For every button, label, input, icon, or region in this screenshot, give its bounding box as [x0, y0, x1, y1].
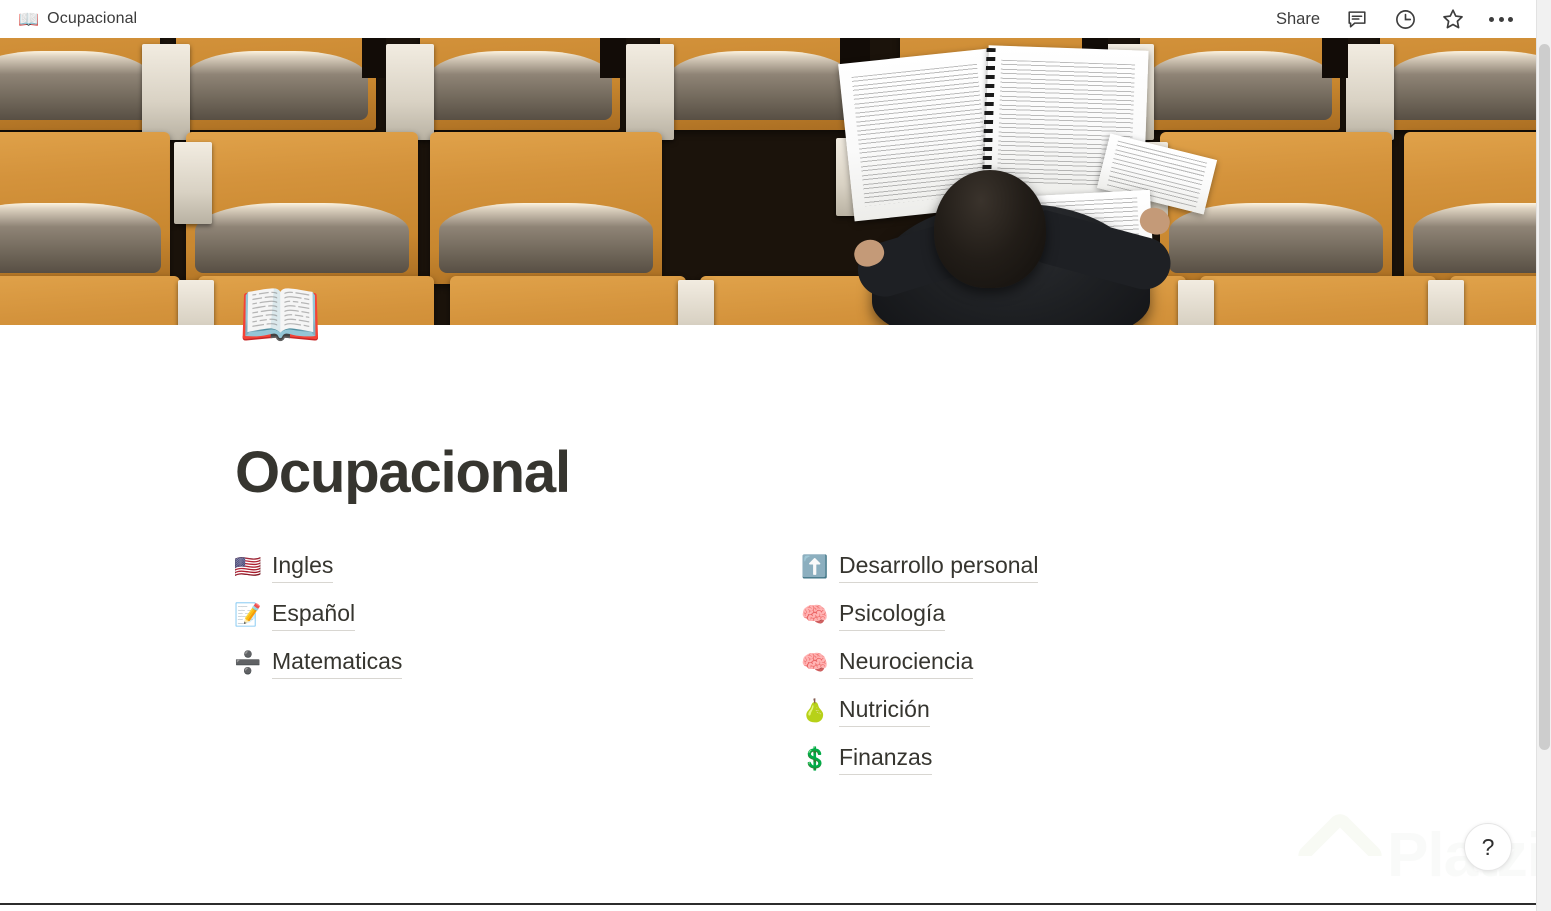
- page-breadcrumb-book-icon: 📖: [18, 11, 39, 28]
- auditorium-scene: [0, 38, 1536, 325]
- scrollbar-thumb[interactable]: [1539, 44, 1550, 750]
- platzi-logo-icon: [1293, 809, 1386, 902]
- star-favorite-icon[interactable]: [1440, 6, 1466, 32]
- list-item[interactable]: 🧠 Psicología: [802, 591, 1402, 639]
- comment-icon[interactable]: [1344, 6, 1370, 32]
- link-columns: 🇺🇸 Ingles 📝 Español ➗ Matematicas ⬆️ Des…: [235, 543, 1415, 783]
- division-sign-icon: ➗: [235, 652, 261, 674]
- notion-page-app: 📖 Ocupacional Share: [0, 0, 1551, 911]
- vertical-scrollbar[interactable]: [1536, 0, 1551, 911]
- list-item[interactable]: ➗ Matematicas: [235, 639, 802, 687]
- page-cover-image[interactable]: [0, 38, 1536, 325]
- breadcrumb-title[interactable]: Ocupacional: [47, 10, 137, 28]
- page-icon-book[interactable]: 📖: [238, 281, 323, 349]
- page-link-desarrollo-personal[interactable]: Desarrollo personal: [839, 551, 1038, 583]
- page-link-neurociencia[interactable]: Neurociencia: [839, 647, 973, 679]
- list-item[interactable]: 🍐 Nutrición: [802, 687, 1402, 735]
- bottom-divider: [0, 903, 1536, 905]
- person-reading: [862, 134, 1162, 325]
- history-clock-icon[interactable]: [1392, 6, 1418, 32]
- page-link-nutricion[interactable]: Nutrición: [839, 695, 930, 727]
- list-item[interactable]: 🇺🇸 Ingles: [235, 543, 802, 591]
- help-button[interactable]: ?: [1464, 823, 1512, 871]
- share-button[interactable]: Share: [1274, 8, 1322, 31]
- list-item[interactable]: ⬆️ Desarrollo personal: [802, 543, 1402, 591]
- list-item[interactable]: 📝 Español: [235, 591, 802, 639]
- memo-icon: 📝: [235, 604, 261, 626]
- brain-icon: 🧠: [802, 604, 828, 626]
- more-options-dots: [1489, 17, 1513, 22]
- us-flag-icon: 🇺🇸: [235, 556, 261, 578]
- page-link-espanol[interactable]: Español: [272, 599, 355, 631]
- column-right: ⬆️ Desarrollo personal 🧠 Psicología 🧠 Ne…: [802, 543, 1402, 783]
- page-link-psicologia[interactable]: Psicología: [839, 599, 945, 631]
- list-item[interactable]: 💲 Finanzas: [802, 735, 1402, 783]
- toolbar-actions: Share: [1274, 6, 1536, 32]
- page-link-ingles[interactable]: Ingles: [272, 551, 333, 583]
- top-toolbar: 📖 Ocupacional Share: [0, 0, 1536, 38]
- list-item[interactable]: 🧠 Neurociencia: [802, 639, 1402, 687]
- page-link-finanzas[interactable]: Finanzas: [839, 743, 932, 775]
- page-link-matematicas[interactable]: Matematicas: [272, 647, 402, 679]
- up-arrow-icon: ⬆️: [802, 556, 828, 578]
- page-title[interactable]: Ocupacional: [235, 443, 570, 504]
- brain-icon: 🧠: [802, 652, 828, 674]
- column-left: 🇺🇸 Ingles 📝 Español ➗ Matematicas: [235, 543, 802, 783]
- breadcrumb[interactable]: 📖 Ocupacional: [0, 10, 137, 28]
- more-options-icon[interactable]: [1488, 6, 1514, 32]
- dollar-sign-icon: 💲: [802, 748, 828, 770]
- pear-icon: 🍐: [802, 700, 828, 722]
